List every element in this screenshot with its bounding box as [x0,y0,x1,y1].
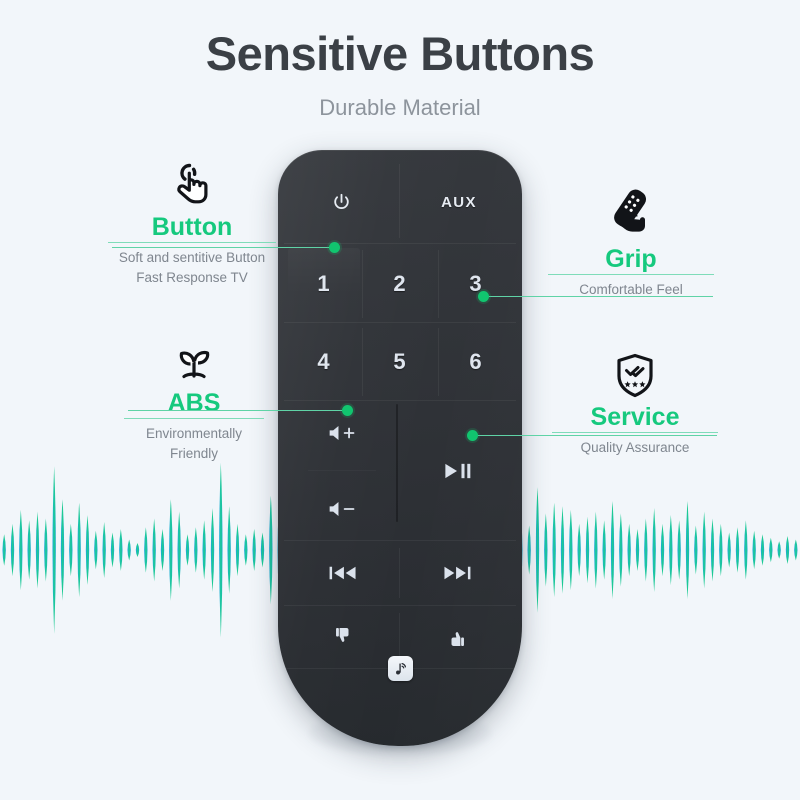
callout-button-desc: Soft and sentitive Button Fast Response … [108,248,276,287]
connector-service [474,435,717,436]
page-title: Sensitive Buttons [0,26,800,81]
power-button[interactable] [286,168,396,236]
marker-dot-service [467,430,478,441]
callout-abs-underline [124,418,264,419]
tap-hand-icon [108,158,276,210]
number-2-button[interactable]: 2 [364,248,436,320]
callout-button-underline [108,242,276,243]
shield-check-icon [552,348,718,400]
number-5-button[interactable]: 5 [364,326,436,398]
volume-down-icon [327,499,357,519]
next-track-icon [440,564,474,582]
callout-service: Service Quality Assurance [552,348,718,458]
callout-service-desc: Quality Assurance [552,438,718,458]
remote-body: AUX 1 2 3 4 5 6 [278,150,522,746]
thumbs-up-icon [446,626,468,648]
number-3-button[interactable]: 3 [440,248,512,320]
marker-dot-grip [478,291,489,302]
connector-abs [128,410,347,411]
callout-button: Button Soft and sentitive Button Fast Re… [108,158,276,287]
marker-dot-abs [342,405,353,416]
power-icon [331,192,352,213]
connector-button [112,247,334,248]
play-pause-button[interactable] [402,404,512,538]
play-pause-icon [440,461,474,481]
thumbs-down-icon [332,626,354,648]
number-1-button[interactable]: 1 [288,248,360,320]
callout-grip: Grip Comfortable Feel [548,190,714,300]
volume-up-icon [327,423,357,443]
aux-button[interactable]: AUX [404,168,514,236]
page-subtitle: Durable Material [0,95,800,121]
callout-button-title: Button [108,214,276,240]
callout-abs-desc: Environmentally Friendly [124,424,264,463]
callout-abs: ABS Environmentally Friendly [124,334,264,463]
callout-service-title: Service [552,404,718,430]
thumbs-down-button[interactable] [288,609,398,665]
tv-remote-product-image: AUX 1 2 3 4 5 6 [278,150,522,760]
hand-holding-remote-icon [548,190,714,242]
callout-abs-title: ABS [124,390,264,416]
sprout-icon [124,334,264,386]
callout-grip-underline [548,274,714,275]
number-6-button[interactable]: 6 [440,326,512,398]
previous-track-button[interactable] [288,544,398,602]
next-track-button[interactable] [402,544,512,602]
connector-grip [484,296,713,297]
previous-track-icon [326,564,360,582]
music-wifi-icon [393,661,409,677]
music-stream-button[interactable] [388,656,413,681]
callout-service-underline [552,432,718,433]
thumbs-up-button[interactable] [402,609,512,665]
number-4-button[interactable]: 4 [288,326,360,398]
header: Sensitive Buttons Durable Material [0,0,800,121]
marker-dot-button [329,242,340,253]
volume-down-button[interactable] [290,480,394,538]
callout-grip-title: Grip [548,246,714,272]
